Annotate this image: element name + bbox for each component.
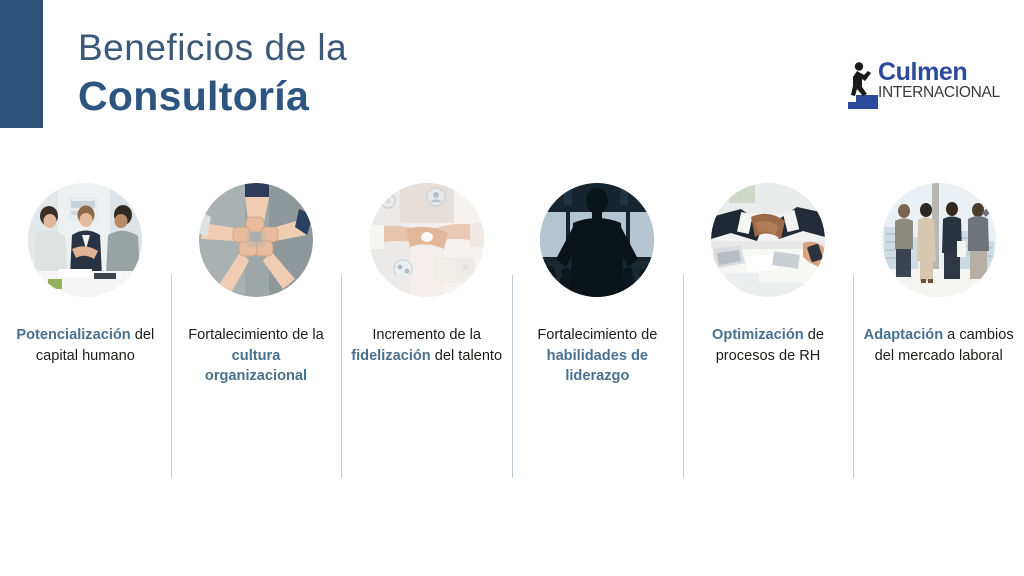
benefit-card-6[interactable]: Adaptación a cambios del mercado laboral (853, 183, 1024, 493)
caption-part-plain: Fortalecimiento de (537, 327, 657, 343)
benefits-card-row: Potencialización del capital humano (0, 183, 1024, 493)
climbing-person-icon (846, 60, 880, 110)
page-title-line-2: Consultoría (78, 72, 347, 120)
card-divider (341, 275, 342, 478)
header-accent-bar (0, 0, 43, 128)
caption-part-plain-2: del talento (431, 348, 502, 364)
handshake-over-desk-photo (711, 183, 825, 297)
leader-silhouette-photo (540, 183, 654, 297)
handshake-digital-icons-photo (370, 183, 484, 297)
benefit-card-1[interactable]: Potencialización del capital humano (0, 183, 171, 493)
benefit-caption-4: Fortalecimiento de habilidades de lidera… (521, 325, 673, 387)
page-title: Beneficios de la Consultoría (78, 26, 347, 120)
benefit-card-2[interactable]: Fortalecimiento de la cultura organizaci… (171, 183, 342, 493)
page-title-line-1: Beneficios de la (78, 26, 347, 70)
benefit-caption-6: Adaptación a cambios del mercado laboral (863, 325, 1015, 366)
caption-part-plain: Fortalecimiento de la (188, 327, 323, 343)
slide-root: Beneficios de la Consultoría Culmen INTE… (0, 0, 1024, 576)
caption-part-highlight: cultura organizacional (205, 348, 307, 385)
caption-part-plain: Incremento de la (372, 327, 481, 343)
caption-part-highlight: Potencialización (16, 327, 130, 343)
caption-part-highlight: Adaptación (864, 327, 943, 343)
benefit-card-3[interactable]: Incremento de la fidelización del talent… (341, 183, 512, 493)
benefit-card-4[interactable]: Fortalecimiento de habilidades de lidera… (512, 183, 683, 493)
logo-subtitle: INTERNACIONAL (878, 85, 980, 101)
business-handshake-meeting-photo (28, 183, 142, 297)
benefit-caption-3: Incremento de la fidelización del talent… (351, 325, 503, 366)
logo-text: Culmen INTERNACIONAL (878, 60, 980, 101)
caption-part-highlight: habilidades de liderazgo (547, 348, 648, 385)
card-divider (512, 275, 513, 478)
card-divider (683, 275, 684, 478)
benefit-card-5[interactable]: Optimización de procesos de RH (683, 183, 854, 493)
card-divider (853, 275, 854, 478)
caption-part-highlight: Optimización (712, 327, 804, 343)
benefit-caption-5: Optimización de procesos de RH (692, 325, 844, 366)
caption-part-highlight: fidelización (351, 348, 430, 364)
benefit-caption-1: Potencialización del capital humano (9, 325, 161, 366)
card-divider (171, 275, 172, 478)
team-fists-circle-photo (199, 183, 313, 297)
colleagues-by-window-photo (882, 183, 996, 297)
benefit-caption-2: Fortalecimiento de la cultura organizaci… (180, 325, 332, 387)
company-logo: Culmen INTERNACIONAL (846, 58, 978, 112)
logo-brand-name: Culmen (878, 60, 980, 84)
